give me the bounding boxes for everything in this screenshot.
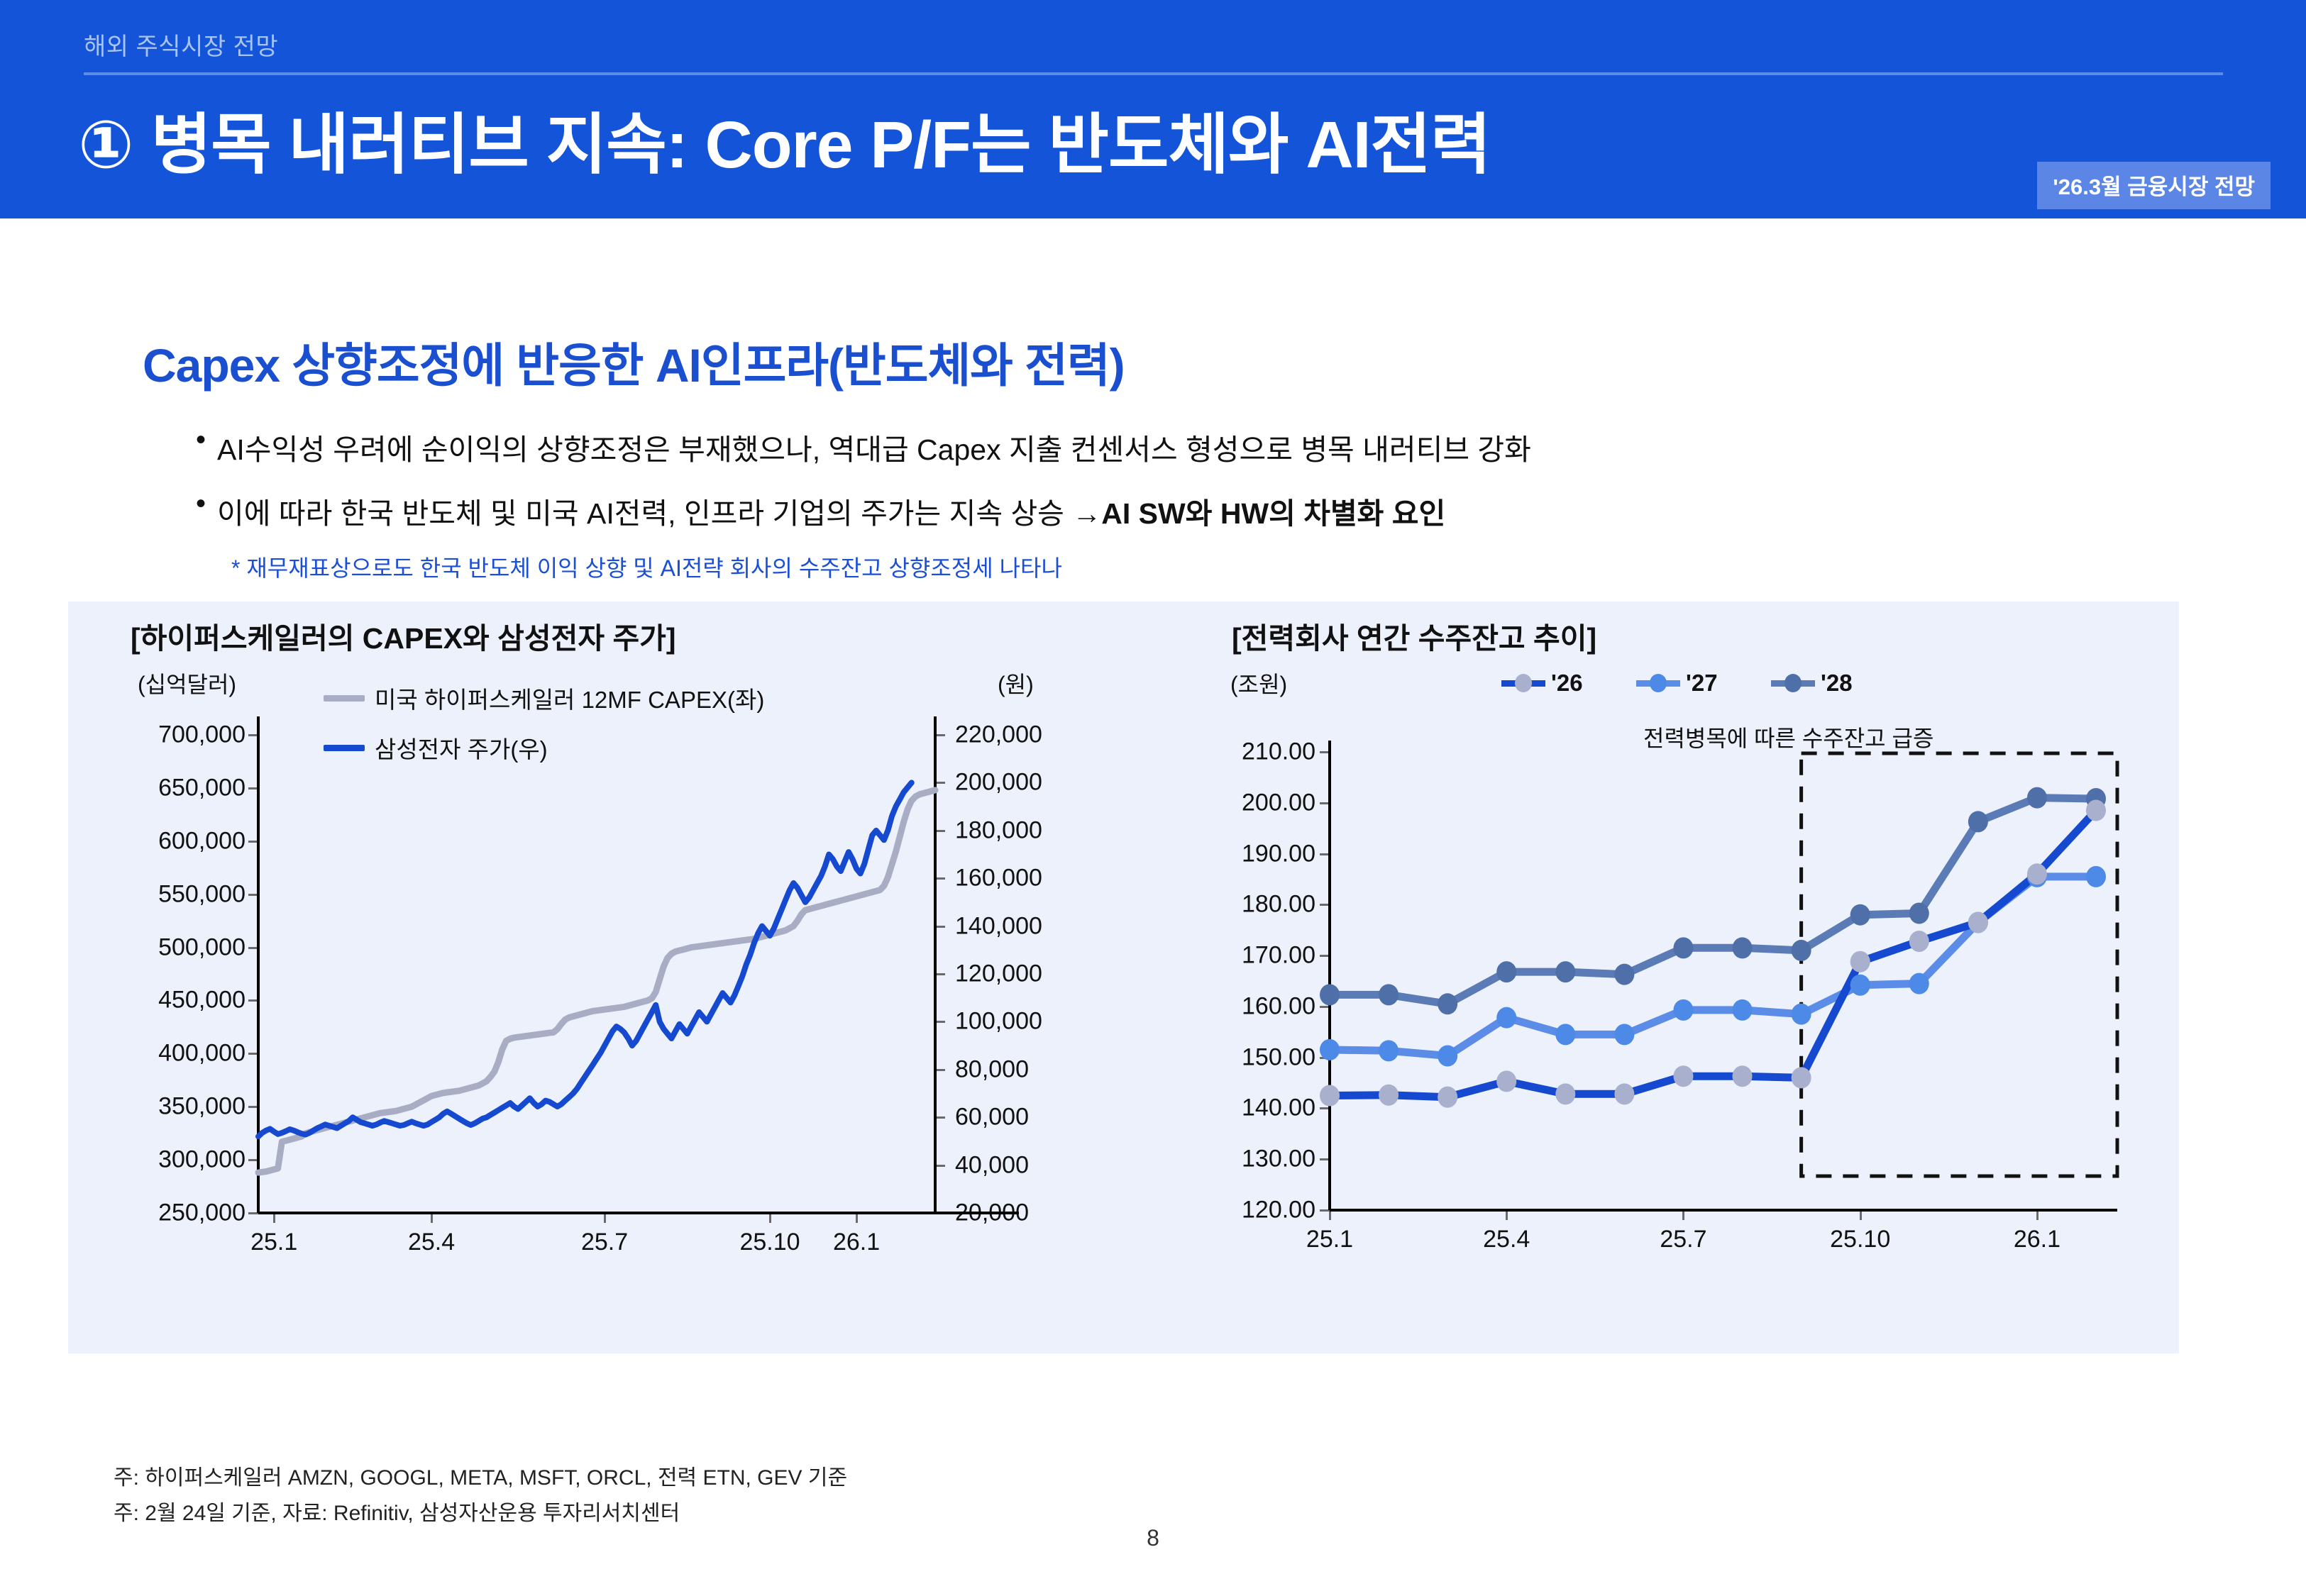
data-point xyxy=(1496,1007,1516,1029)
page-title: ① 병목 내러티브 지속: Core P/F는 반도체와 AI전력 xyxy=(78,91,1491,187)
power-backlog-chart: [전력회사 연간 수주잔고 추이] (조원) '26 '27 '28 xyxy=(1147,602,2179,1353)
data-point xyxy=(1379,984,1399,1005)
data-point xyxy=(1379,1085,1399,1106)
data-point xyxy=(1438,1087,1457,1108)
data-point xyxy=(1438,993,1457,1014)
series-line xyxy=(258,790,935,1173)
data-point xyxy=(1792,1004,1811,1025)
data-point xyxy=(1733,1065,1753,1087)
data-point xyxy=(1850,951,1870,972)
data-point xyxy=(1792,1067,1811,1088)
data-point xyxy=(1673,937,1693,958)
data-point xyxy=(1555,961,1575,982)
data-point xyxy=(1968,911,1988,933)
slide-header: 해외 주식시장 전망 ① 병목 내러티브 지속: Core P/F는 반도체와 … xyxy=(0,0,2306,218)
charts-panel: [하이퍼스케일러의 CAPEX와 삼성전자 주가] (십억달러) (원) 미국 … xyxy=(68,602,2179,1353)
series-line xyxy=(258,782,912,1136)
data-point xyxy=(1614,1083,1634,1104)
bullet-marker: • xyxy=(196,426,206,454)
header-badge: '26.3월 금융시장 전망 xyxy=(2037,162,2271,209)
data-point xyxy=(1614,1024,1634,1045)
data-point xyxy=(1909,931,1929,952)
bullet-item-1: • AI수익성 우려에 순이익의 상향조정은 부재했으나, 역대급 Capex … xyxy=(196,426,1531,468)
footnote-1: 주: 하이퍼스케일러 AMZN, GOOGL, META, MSFT, ORCL… xyxy=(114,1460,847,1491)
data-point xyxy=(2086,866,2106,887)
data-point xyxy=(1320,984,1340,1005)
data-point xyxy=(1673,1065,1693,1087)
data-point xyxy=(2086,800,2106,821)
data-point xyxy=(1496,1070,1516,1092)
data-point xyxy=(1438,1046,1457,1067)
sub-note: * 재무재표상으로도 한국 반도체 이익 상향 및 AI전략 회사의 수주잔고 … xyxy=(231,550,1062,583)
data-point xyxy=(1673,999,1693,1021)
data-point xyxy=(1968,811,1988,832)
left-chart-plot xyxy=(68,602,1147,1353)
data-point xyxy=(1909,973,1929,994)
bullet-text-emphasis: AI SW와 HW의 차별화 요인 xyxy=(1101,489,1445,532)
highlight-box xyxy=(1802,753,2117,1176)
bullet-item-2: • 이에 따라 한국 반도체 및 미국 AI전력, 인프라 기업의 주가는 지속… xyxy=(196,489,1445,532)
right-chart-plot xyxy=(1147,602,2179,1353)
bullet-text: 이에 따라 한국 반도체 및 미국 AI전력, 인프라 기업의 주가는 지속 상… xyxy=(217,489,1101,532)
data-point xyxy=(1850,904,1870,926)
header-divider xyxy=(84,72,2223,75)
page-number: 8 xyxy=(0,1525,2306,1551)
card-title: Capex 상향조정에 반응한 AI인프라(반도체와 전력) xyxy=(143,328,1125,396)
content-card: Capex 상향조정에 반응한 AI인프라(반도체와 전력) • AI수익성 우… xyxy=(68,268,2179,1446)
series-line xyxy=(1330,877,2096,1056)
data-point xyxy=(1496,961,1516,982)
header-kicker: 해외 주식시장 전망 xyxy=(84,27,278,62)
data-point xyxy=(1320,1085,1340,1107)
data-point xyxy=(1320,1039,1340,1060)
data-point xyxy=(1555,1083,1575,1104)
data-point xyxy=(2027,863,2047,885)
data-point xyxy=(2027,787,2047,809)
data-point xyxy=(1909,903,1929,924)
data-point xyxy=(1733,937,1753,958)
hyperscaler-capex-chart: [하이퍼스케일러의 CAPEX와 삼성전자 주가] (십억달러) (원) 미국 … xyxy=(68,602,1147,1353)
bullet-marker: • xyxy=(196,489,206,518)
bullet-text: AI수익성 우려에 순이익의 상향조정은 부재했으나, 역대급 Capex 지출… xyxy=(217,426,1531,468)
data-point xyxy=(1614,964,1634,985)
data-point xyxy=(1733,999,1753,1021)
data-point xyxy=(1379,1040,1399,1061)
data-point xyxy=(1792,940,1811,961)
footnote-2: 주: 2월 24일 기준, 자료: Refinitiv, 삼성자산운용 투자리서… xyxy=(114,1495,680,1526)
data-point xyxy=(1850,975,1870,996)
data-point xyxy=(1555,1024,1575,1045)
